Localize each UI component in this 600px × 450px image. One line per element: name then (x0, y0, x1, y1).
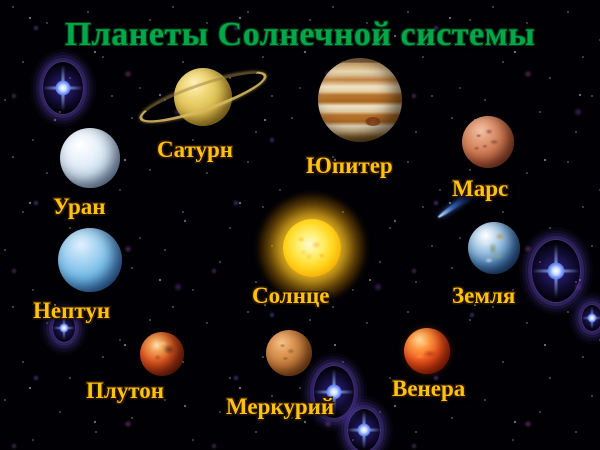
sun-granules (285, 221, 339, 275)
uranus-body (60, 128, 120, 188)
planet-venus (404, 328, 452, 376)
planet-earth (468, 222, 522, 276)
mars-surface-texture (462, 116, 514, 168)
venus-body (404, 328, 450, 374)
jupiter-great-red-spot (365, 117, 381, 126)
mars-body (462, 116, 514, 168)
neptune-body (58, 228, 122, 292)
planet-label-sun: Солнце (252, 283, 329, 309)
planet-saturn (168, 62, 238, 132)
planet-label-pluto: Плутон (86, 378, 164, 404)
planet-pluto (140, 332, 186, 378)
planet-label-neptune: Нептун (33, 298, 110, 324)
solar-system-poster: Планеты Солнечной системы Сатурн Юпитер … (0, 0, 600, 450)
planet-label-earth: Земля (452, 283, 515, 309)
planet-label-jupiter: Юпитер (306, 153, 393, 179)
pluto-surface-texture (140, 332, 184, 376)
planet-label-venus: Венера (392, 376, 465, 402)
planet-mercury (266, 330, 314, 378)
jupiter-body (318, 58, 402, 142)
planet-neptune (58, 228, 124, 294)
planet-label-mercury: Меркурий (226, 394, 334, 420)
planet-label-uranus: Уран (53, 194, 106, 220)
page-title: Планеты Солнечной системы (0, 16, 600, 54)
pluto-body (140, 332, 184, 376)
planet-uranus (60, 128, 122, 190)
mercury-surface-texture (266, 330, 312, 376)
planet-label-mars: Марс (452, 176, 508, 202)
earth-body (468, 222, 520, 274)
venus-surface-texture (404, 328, 450, 374)
planet-mars (462, 116, 516, 170)
planet-jupiter (318, 58, 404, 144)
planet-label-saturn: Сатурн (157, 137, 233, 163)
earth-continents (468, 222, 520, 274)
mercury-body (266, 330, 312, 376)
